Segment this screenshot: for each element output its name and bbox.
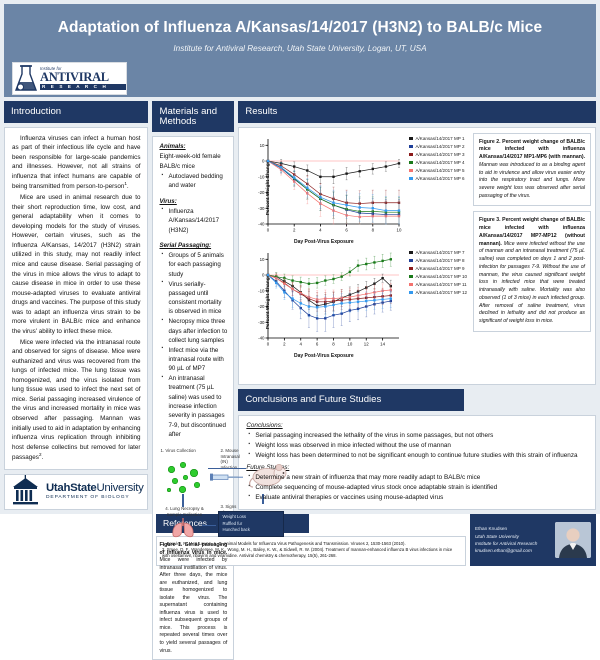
- contact-affiliation-2: Institute for Antiviral Research: [475, 540, 551, 547]
- legend-swatch: [409, 283, 412, 286]
- svg-text:14: 14: [381, 341, 386, 346]
- contact-card: Ethan Knudsen Utah State University Inst…: [470, 514, 596, 566]
- legend-label: A/Kansas/14/2017 MP 3: [416, 152, 465, 157]
- chart-1-plot: Percent Weight Change Day Post-Virus Exp…: [242, 132, 405, 244]
- figure-2-caption-title: Figure 2. Percent weight change of BALB/…: [479, 139, 585, 160]
- results-content: Percent Weight Change Day Post-Virus Exp…: [239, 128, 595, 360]
- methods-subheading-serial-passaging: Serial Passaging:: [159, 241, 227, 250]
- lungs-icon: [170, 516, 198, 540]
- figure-2-caption-body: Mannan was introduced to as a binding ag…: [479, 162, 585, 199]
- contact-affiliation-1: Utah State University: [475, 533, 551, 540]
- affiliation-subtitle: Institute for Antiviral Research, Utah S…: [4, 44, 596, 53]
- poster-header: Adaptation of Influenza A/Kansas/14/2017…: [4, 4, 596, 97]
- svg-text:0: 0: [262, 158, 265, 163]
- methods-text: Animals: Eight-week-old female BALB/c mi…: [153, 137, 233, 445]
- svg-text:-30: -30: [258, 205, 265, 210]
- legend-swatch: [409, 145, 412, 148]
- usu-department: DEPARTMENT OF BIOLOGY: [46, 496, 143, 501]
- legend-label: A/Kansas/14/2017 MP 1: [416, 136, 465, 141]
- list-item: Autoclaved bedding and water: [167, 172, 227, 191]
- svg-text:6: 6: [316, 341, 319, 346]
- usu-name: UtahStateUniversity: [46, 483, 143, 494]
- chart-figure-3: Percent Weight Change Day Post-Virus Exp…: [242, 246, 467, 358]
- methods-subheading-animals: Animals:: [159, 142, 227, 151]
- syringe-icon: [210, 470, 244, 482]
- svg-text:8: 8: [333, 341, 336, 346]
- section-header-results: Results: [238, 101, 596, 123]
- legend-item: A/Kansas/14/2017 MP 7: [409, 250, 467, 255]
- list-item: Complete sequencing of mouse-adapted vir…: [254, 483, 588, 493]
- virus-particles-icon: [166, 462, 208, 494]
- legend-item: A/Kansas/14/2017 MP 5: [409, 168, 467, 173]
- svg-text:-40: -40: [258, 221, 265, 226]
- logo-line-mid: ANTIVIRAL: [40, 71, 126, 84]
- legend-swatch: [409, 267, 412, 270]
- list-item: Virus serially-passaged until consistent…: [167, 280, 227, 317]
- legend-item: A/Kansas/14/2017 MP 10: [409, 274, 467, 279]
- legend-swatch: [409, 291, 412, 294]
- figure-3-caption-body: Mice were infected without the use of ma…: [479, 241, 585, 324]
- signs-of-disease-box: Weight Loss Ruffled fur Hunched back: [218, 511, 284, 537]
- arrow-left-to-lungs: [202, 525, 216, 526]
- methods-virus-bullets: Influenza A/Kansas/14/2017 (H3N2): [159, 207, 227, 235]
- logo-wordmark: Institute for ANTIVIRAL R E S E A R C H: [39, 67, 126, 90]
- svg-text:4: 4: [300, 341, 303, 346]
- svg-text:0: 0: [267, 341, 270, 346]
- list-item: An intranasal treatment (75 µL saline) w…: [167, 374, 227, 439]
- section-header-introduction: Introduction: [4, 101, 148, 123]
- flask-icon: [13, 63, 39, 94]
- methods-animals-bullets: Autoclaved bedding and water: [159, 172, 227, 191]
- conclusions-panel: Conclusions: Serial passaging increased …: [238, 415, 596, 510]
- chart-figure-2: Percent Weight Change Day Post-Virus Exp…: [242, 132, 467, 244]
- sign-item: Ruffled fur: [222, 521, 280, 528]
- results-captions: Figure 2. Percent weight change of BALB/…: [473, 128, 595, 360]
- figure-3-caption: Figure 3. Percent weight change of BALB/…: [473, 211, 591, 331]
- introduction-panel: Influenza viruses can infect a human hos…: [4, 127, 148, 470]
- legend-item: A/Kansas/14/2017 MP 6: [409, 176, 467, 181]
- svg-text:10: 10: [348, 341, 353, 346]
- legend-swatch: [409, 251, 412, 254]
- svg-text:-10: -10: [258, 288, 265, 293]
- legend-swatch: [409, 169, 412, 172]
- contact-name: Ethan Knudsen: [475, 525, 551, 532]
- antiviral-research-logo: Institute for ANTIVIRAL R E S E A R C H: [12, 62, 127, 95]
- legend-label: A/Kansas/14/2017 MP 5: [416, 168, 465, 173]
- list-item: Influenza A/Kansas/14/2017 (H3N2): [167, 207, 227, 235]
- svg-text:-20: -20: [258, 190, 265, 195]
- results-panel: Percent Weight Change Day Post-Virus Exp…: [238, 127, 596, 386]
- legend-item: A/Kansas/14/2017 MP 11: [409, 282, 467, 287]
- page-title: Adaptation of Influenza A/Kansas/14/2017…: [22, 19, 578, 37]
- legend-label: A/Kansas/14/2017 MP 8: [416, 258, 465, 263]
- figure-1-caption: Figure 1. Serial passaging of influenza …: [158, 542, 228, 655]
- legend-item: A/Kansas/14/2017 MP 3: [409, 152, 467, 157]
- legend-label: A/Kansas/14/2017 MP 12: [416, 290, 467, 295]
- intro-paragraph-3: Mice were infected via the intranasal ro…: [12, 338, 140, 463]
- references-spacer: [4, 514, 152, 566]
- list-item: Determine a new strain of influenza that…: [254, 473, 588, 483]
- svg-text:10: 10: [260, 256, 265, 261]
- svg-text:-40: -40: [258, 335, 265, 340]
- legend-swatch: [409, 275, 412, 278]
- svg-text:-10: -10: [258, 174, 265, 179]
- methods-animals-line: Eight-week-old female BALB/c mice: [159, 152, 227, 171]
- poster-canvas: Adaptation of Influenza A/Kansas/14/2017…: [0, 0, 600, 514]
- legend-item: A/Kansas/14/2017 MP 1: [409, 136, 467, 141]
- figure-1-diagram: 1. Virus Collection 2. Mouse Intranasal …: [158, 448, 228, 540]
- sign-item: Weight Loss: [222, 514, 280, 521]
- legend-swatch: [409, 177, 412, 180]
- chart-2-legend: A/Kansas/14/2017 MP 7A/Kansas/14/2017 MP…: [405, 246, 467, 358]
- svg-text:0: 0: [262, 272, 265, 277]
- svg-text:2: 2: [283, 341, 286, 346]
- legend-item: A/Kansas/14/2017 MP 8: [409, 258, 467, 263]
- svg-text:12: 12: [364, 341, 369, 346]
- introduction-text: Influenza viruses can infect a human hos…: [5, 128, 147, 469]
- column-methods: Materials and Methods Animals: Eight-wee…: [152, 101, 234, 510]
- list-item: Weight loss was observed in mice infecte…: [254, 441, 588, 451]
- legend-item: A/Kansas/14/2017 MP 9: [409, 266, 467, 271]
- legend-label: A/Kansas/14/2017 MP 9: [416, 266, 465, 271]
- list-item: Evaluate antiviral therapies or vaccines…: [254, 493, 588, 503]
- legend-swatch: [409, 259, 412, 262]
- poster-footer: References 1. Bouvier, N. M. & Lowen, A.…: [4, 514, 596, 566]
- logo-line-bottom: R E S E A R C H: [40, 84, 126, 91]
- methods-serial-bullets: Groups of 5 animals for each passaging s…: [159, 251, 227, 439]
- poster-columns: Introduction Influenza viruses can infec…: [4, 101, 596, 510]
- svg-text:6: 6: [346, 227, 349, 232]
- utah-state-university-logo: UtahStateUniversity DEPARTMENT OF BIOLOG…: [4, 474, 148, 510]
- methods-panel: Animals: Eight-week-old female BALB/c mi…: [152, 136, 234, 660]
- svg-text:0: 0: [267, 227, 270, 232]
- intro-paragraph-2: Mice are used in animal research due to …: [12, 193, 140, 336]
- svg-text:2: 2: [293, 227, 296, 232]
- arrow-to-mouse: [208, 468, 246, 469]
- legend-item: A/Kansas/14/2017 MP 2: [409, 144, 467, 149]
- sign-item: Hunched back: [222, 527, 280, 534]
- usu-building-icon: [9, 475, 42, 508]
- figure-1-caption-body: Mice were infected by intranasal instill…: [159, 557, 227, 653]
- methods-subheading-virus: Virus:: [159, 197, 227, 206]
- figure-1-caption-title: Figure 1. Serial passaging of influenza …: [159, 542, 227, 556]
- usu-wordmark: UtahStateUniversity DEPARTMENT OF BIOLOG…: [46, 483, 143, 501]
- conclusions-subheading: Conclusions:: [246, 421, 588, 431]
- legend-label: A/Kansas/14/2017 MP 7: [416, 250, 465, 255]
- figure-2-caption: Figure 2. Percent weight change of BALB/…: [473, 133, 591, 207]
- list-item: Groups of 5 animals for each passaging s…: [167, 251, 227, 279]
- section-header-methods: Materials and Methods: [152, 101, 234, 132]
- svg-text:10: 10: [260, 142, 265, 147]
- future-studies-subheading: Future Studies:: [246, 463, 588, 473]
- column-results: Results Percent Weight Change Day Post-V…: [238, 101, 596, 510]
- legend-swatch: [409, 137, 412, 140]
- chart-1-legend: A/Kansas/14/2017 MP 1A/Kansas/14/2017 MP…: [405, 132, 467, 244]
- legend-swatch: [409, 161, 412, 164]
- conclusions-text: Conclusions: Serial passaging increased …: [239, 416, 595, 509]
- svg-text:10: 10: [397, 227, 402, 232]
- legend-label: A/Kansas/14/2017 MP 6: [416, 176, 465, 181]
- contact-email[interactable]: knudsen.ethan@gmail.com: [475, 547, 551, 554]
- future-studies-list: Determine a new strain of influenza that…: [246, 473, 588, 503]
- column-introduction: Introduction Influenza viruses can infec…: [4, 101, 148, 510]
- figure1-step1-label: 1. Virus Collection: [160, 448, 195, 454]
- list-item: Necropsy mice three days after infection…: [167, 317, 227, 345]
- intro-paragraph-1: Influenza viruses can infect a human hos…: [12, 134, 140, 192]
- legend-label: A/Kansas/14/2017 MP 11: [416, 282, 467, 287]
- figure-1: 1. Virus Collection 2. Mouse Intranasal …: [153, 445, 233, 659]
- svg-text:-30: -30: [258, 319, 265, 324]
- legend-label: A/Kansas/14/2017 MP 4: [416, 160, 465, 165]
- legend-item: A/Kansas/14/2017 MP 12: [409, 290, 467, 295]
- figure1-step2-label: 2. Mouse Intranasal (IN) Infection: [220, 448, 239, 470]
- results-charts: Percent Weight Change Day Post-Virus Exp…: [239, 128, 469, 360]
- conclusions-list: Serial passaging increased the lethality…: [246, 431, 588, 461]
- legend-item: A/Kansas/14/2017 MP 4: [409, 160, 467, 165]
- svg-text:-20: -20: [258, 304, 265, 309]
- svg-text:8: 8: [372, 227, 375, 232]
- legend-swatch: [409, 153, 412, 156]
- chart-2-plot: Percent Weight Change Day Post-Virus Exp…: [242, 246, 405, 358]
- legend-label: A/Kansas/14/2017 MP 2: [416, 144, 465, 149]
- list-item: Infect mice via the intranasal route wit…: [167, 346, 227, 374]
- list-item: Weight loss has been determined to not b…: [254, 451, 588, 461]
- avatar: [555, 522, 591, 558]
- legend-label: A/Kansas/14/2017 MP 10: [416, 274, 467, 279]
- section-header-conclusions: Conclusions and Future Studies: [238, 389, 464, 411]
- contact-details: Ethan Knudsen Utah State University Inst…: [475, 525, 551, 554]
- svg-text:4: 4: [320, 227, 323, 232]
- list-item: Serial passaging increased the lethality…: [254, 431, 588, 441]
